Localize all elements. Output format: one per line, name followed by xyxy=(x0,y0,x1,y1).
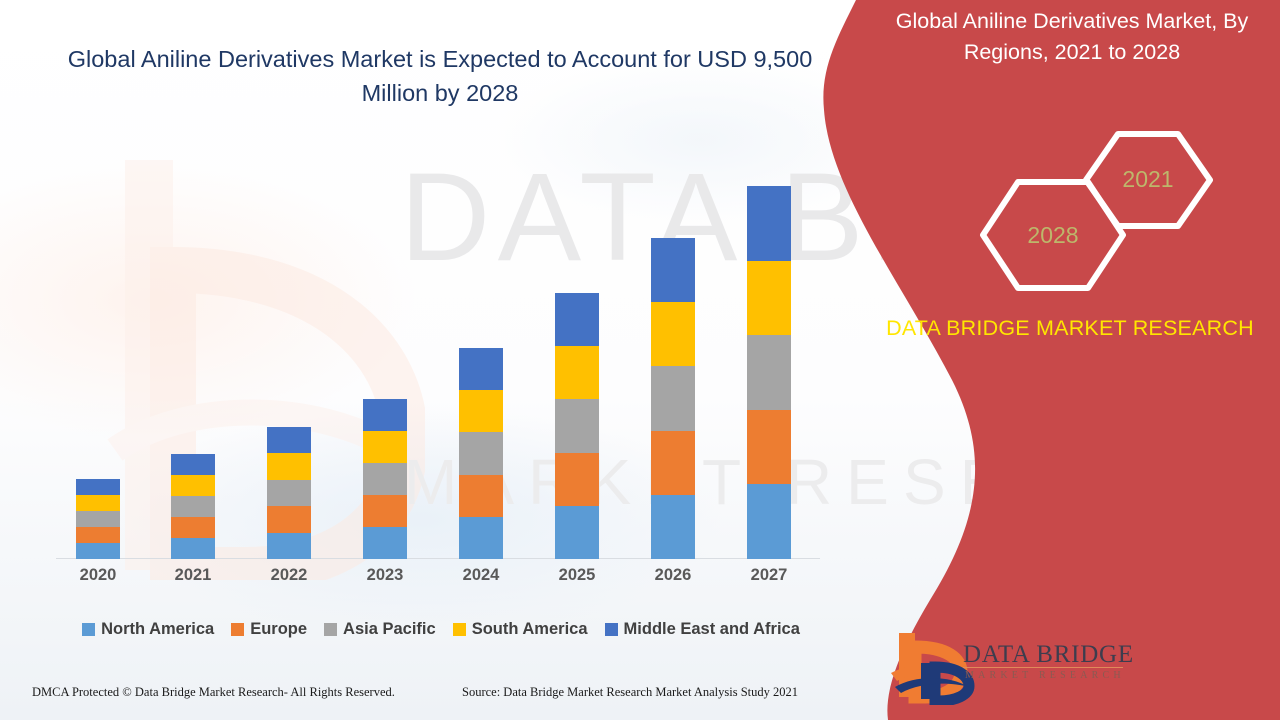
footer-source: Source: Data Bridge Market Research Mark… xyxy=(462,685,798,700)
x-tick-2025: 2025 xyxy=(529,566,625,585)
legend-swatch-middle-east-and-africa xyxy=(605,623,618,636)
bar-segment-europe-2023 xyxy=(363,495,407,527)
bar-segment-north-america-2025 xyxy=(555,506,599,559)
bar-segment-north-america-2024 xyxy=(459,517,503,559)
x-tick-2020: 2020 xyxy=(50,566,146,585)
bar-segment-europe-2022 xyxy=(267,506,311,532)
x-tick-2027: 2027 xyxy=(721,566,817,585)
bar-segment-south-america-2022 xyxy=(267,453,311,479)
logo-text-primary: DATA BRIDGE xyxy=(963,641,1134,669)
chart-title: Global Aniline Derivatives Market is Exp… xyxy=(60,42,820,110)
legend-item-south-america[interactable]: South America xyxy=(453,620,588,639)
bar-2020 xyxy=(76,479,120,559)
bar-segment-south-america-2021 xyxy=(171,475,215,496)
bar-2027 xyxy=(747,186,791,559)
legend-swatch-south-america xyxy=(453,623,466,636)
bar-segment-south-america-2027 xyxy=(747,261,791,336)
bar-segment-north-america-2026 xyxy=(651,495,695,559)
x-tick-2021: 2021 xyxy=(145,566,241,585)
bar-segment-asia-pacific-2023 xyxy=(363,463,407,495)
panel-title: Global Aniline Derivatives Market, By Re… xyxy=(872,6,1272,68)
bar-segment-south-america-2020 xyxy=(76,495,120,511)
x-tick-2023: 2023 xyxy=(337,566,433,585)
bar-segment-middle-east-and-africa-2025 xyxy=(555,293,599,346)
bar-segment-middle-east-and-africa-2024 xyxy=(459,348,503,390)
logo-text-secondary: MARKET RESEARCH xyxy=(965,670,1125,681)
legend-swatch-north-america xyxy=(82,623,95,636)
bar-segment-europe-2027 xyxy=(747,410,791,485)
legend-label-south-america: South America xyxy=(472,620,588,639)
brand-panel-content: Global Aniline Derivatives Market, By Re… xyxy=(860,0,1280,720)
hexagon-2028-label: 2028 xyxy=(1003,222,1103,249)
bar-segment-asia-pacific-2024 xyxy=(459,432,503,474)
bar-segment-north-america-2023 xyxy=(363,527,407,559)
bar-segment-south-america-2025 xyxy=(555,346,599,399)
legend-item-asia-pacific[interactable]: Asia Pacific xyxy=(324,620,436,639)
bar-segment-asia-pacific-2027 xyxy=(747,335,791,410)
hexagon-2021-label: 2021 xyxy=(1098,166,1198,193)
bar-segment-asia-pacific-2022 xyxy=(267,480,311,506)
chart-plot-area xyxy=(56,150,820,559)
bar-segment-south-america-2024 xyxy=(459,390,503,432)
x-tick-2024: 2024 xyxy=(433,566,529,585)
legend-item-europe[interactable]: Europe xyxy=(231,620,307,639)
bar-segment-middle-east-and-africa-2020 xyxy=(76,479,120,495)
legend-label-asia-pacific: Asia Pacific xyxy=(343,620,436,639)
bar-2024 xyxy=(459,348,503,559)
bar-2026 xyxy=(651,238,695,559)
bar-segment-europe-2025 xyxy=(555,453,599,506)
bar-segment-asia-pacific-2026 xyxy=(651,366,695,430)
bar-segment-asia-pacific-2020 xyxy=(76,511,120,527)
bar-segment-south-america-2026 xyxy=(651,302,695,366)
hexagon-group: 2021 2028 xyxy=(860,120,1280,295)
bar-segment-europe-2021 xyxy=(171,517,215,538)
bar-2021 xyxy=(171,454,215,559)
brand-logo: DATA BRIDGE MARKET RESEARCH xyxy=(885,625,1135,705)
legend-label-north-america: North America xyxy=(101,620,214,639)
legend-item-middle-east-and-africa[interactable]: Middle East and Africa xyxy=(605,620,800,639)
bar-segment-north-america-2021 xyxy=(171,538,215,559)
legend-label-europe: Europe xyxy=(250,620,307,639)
legend-swatch-asia-pacific xyxy=(324,623,337,636)
legend-item-north-america[interactable]: North America xyxy=(82,620,214,639)
bar-segment-asia-pacific-2021 xyxy=(171,496,215,517)
bar-segment-europe-2026 xyxy=(651,431,695,495)
brand-name: DATA BRIDGE MARKET RESEARCH xyxy=(870,312,1270,344)
bar-segment-middle-east-and-africa-2021 xyxy=(171,454,215,475)
bar-2023 xyxy=(363,399,407,559)
bar-segment-middle-east-and-africa-2026 xyxy=(651,238,695,302)
chart-legend: North AmericaEuropeAsia PacificSouth Ame… xyxy=(56,617,826,641)
bar-2022 xyxy=(267,427,311,559)
x-tick-2026: 2026 xyxy=(625,566,721,585)
bar-segment-asia-pacific-2025 xyxy=(555,399,599,452)
bar-segment-middle-east-and-africa-2027 xyxy=(747,186,791,261)
bar-segment-north-america-2027 xyxy=(747,484,791,559)
legend-label-middle-east-and-africa: Middle East and Africa xyxy=(624,620,800,639)
bar-segment-south-america-2023 xyxy=(363,431,407,463)
bar-segment-north-america-2022 xyxy=(267,533,311,559)
legend-swatch-europe xyxy=(231,623,244,636)
bar-2025 xyxy=(555,293,599,559)
bar-segment-middle-east-and-africa-2022 xyxy=(267,427,311,453)
bar-segment-europe-2024 xyxy=(459,475,503,517)
bar-segment-north-america-2020 xyxy=(76,543,120,559)
bar-segment-middle-east-and-africa-2023 xyxy=(363,399,407,431)
footer-copyright: DMCA Protected © Data Bridge Market Rese… xyxy=(32,685,395,700)
x-tick-2022: 2022 xyxy=(241,566,337,585)
bar-segment-europe-2020 xyxy=(76,527,120,543)
